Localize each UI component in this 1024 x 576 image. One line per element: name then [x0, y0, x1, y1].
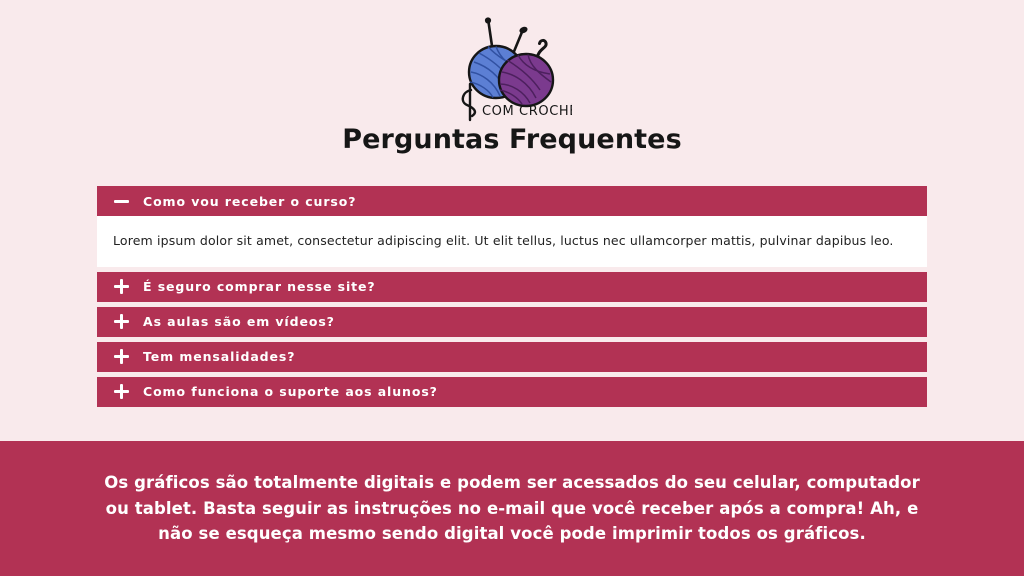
- faq-item: É seguro comprar nesse site?: [97, 272, 927, 302]
- minus-icon[interactable]: [111, 190, 133, 212]
- faq-question-label: Como funciona o suporte aos alunos?: [143, 384, 438, 399]
- faq-item: Tem mensalidades?: [97, 342, 927, 372]
- plus-icon[interactable]: [111, 311, 133, 333]
- faq-question-label: Tem mensalidades?: [143, 349, 295, 364]
- needle-left-tip-icon: [485, 17, 491, 23]
- faq-accordion: Como vou receber o curso? Lorem ipsum do…: [97, 186, 927, 407]
- faq-answer-text: Lorem ipsum dolor sit amet, consectetur …: [113, 232, 894, 251]
- faq-item: As aulas são em vídeos?: [97, 307, 927, 337]
- com-croche-logo: COM CROCHÊ: [452, 10, 572, 122]
- yarn-ball-purple: [499, 54, 553, 106]
- page-title: Perguntas Frequentes: [0, 120, 1024, 166]
- plus-icon[interactable]: [111, 276, 133, 298]
- faq-page: COM CROCHÊ Perguntas Frequentes Como vou…: [0, 0, 1024, 576]
- footer-banner-text: Os gráficos são totalmente digitais e po…: [92, 470, 932, 547]
- logo-wordmark: COM CROCHÊ: [482, 103, 572, 119]
- faq-item: Como vou receber o curso? Lorem ipsum do…: [97, 186, 927, 267]
- faq-item: Como funciona o suporte aos alunos?: [97, 377, 927, 407]
- footer-banner: Os gráficos são totalmente digitais e po…: [0, 441, 1024, 576]
- faq-header-como-vou-receber-o-curso[interactable]: Como vou receber o curso?: [97, 186, 927, 216]
- faq-header-as-aulas-sao-em-videos[interactable]: As aulas são em vídeos?: [97, 307, 927, 337]
- faq-question-label: Como vou receber o curso?: [143, 194, 356, 209]
- needle-right-tip-icon: [518, 26, 528, 35]
- plus-icon[interactable]: [111, 381, 133, 403]
- plus-icon[interactable]: [111, 346, 133, 368]
- faq-header-como-funciona-o-suporte-aos-alunos[interactable]: Como funciona o suporte aos alunos?: [97, 377, 927, 407]
- faq-header-e-seguro-comprar-nesse-site[interactable]: É seguro comprar nesse site?: [97, 272, 927, 302]
- faq-answer-panel: Lorem ipsum dolor sit amet, consectetur …: [97, 216, 927, 267]
- faq-question-label: As aulas são em vídeos?: [143, 314, 335, 329]
- faq-header-tem-mensalidades[interactable]: Tem mensalidades?: [97, 342, 927, 372]
- logo-container: COM CROCHÊ: [0, 0, 1024, 120]
- brand-symbol: [463, 84, 475, 120]
- faq-question-label: É seguro comprar nesse site?: [143, 279, 376, 294]
